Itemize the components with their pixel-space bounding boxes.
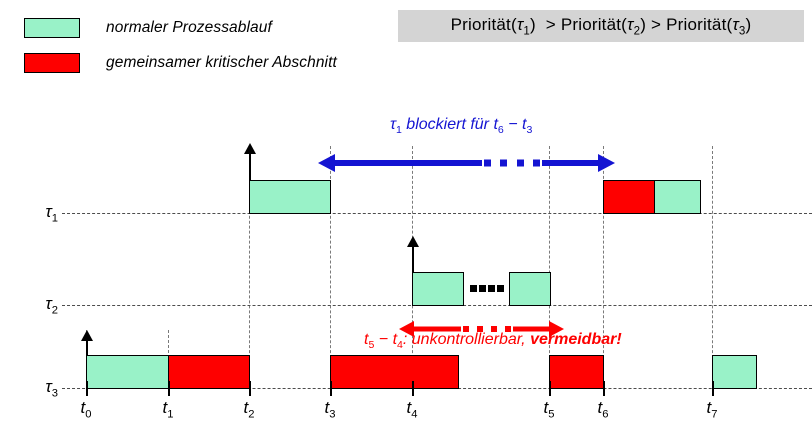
tick-label-t1: t1	[163, 398, 174, 420]
row-label-tau3: τ3	[18, 377, 58, 399]
row-label-tau2: τ2	[18, 294, 58, 316]
gridline-t5	[549, 146, 550, 388]
tick-t2	[249, 381, 251, 396]
tick-label-t0: t0	[81, 398, 92, 420]
tick-t0	[86, 381, 88, 396]
tick-label-t3: t3	[325, 398, 336, 420]
priority-order-box: Priorität(τ1) > Priorität(τ2) > Prioritä…	[398, 10, 804, 42]
preemption-dots-tau2	[470, 285, 504, 292]
bar-tau3-critical-t1-t2	[168, 355, 250, 389]
arrow-shaft-left	[334, 160, 482, 166]
bar-tau3-critical-t5-t6	[549, 355, 604, 389]
tick-label-t6: t6	[598, 398, 609, 420]
annotation-blocked-label: τ1 blockiert für t6 − t3	[390, 116, 532, 136]
arrow-head-right-icon	[598, 154, 615, 172]
annotation-blocked-arrow	[318, 153, 615, 173]
bar-tau3-normal-t0-t1	[86, 355, 169, 389]
arrow-head-left-icon	[318, 154, 335, 172]
bar-tau2-normal-t5	[509, 272, 551, 306]
tick-t7	[712, 381, 714, 396]
diagram-canvas: normaler Prozessablauf gemeinsamer kriti…	[0, 0, 812, 432]
arrow-shaft-right	[542, 160, 598, 166]
tick-t3	[330, 381, 332, 396]
tick-label-t2: t2	[244, 398, 255, 420]
bar-tau1-normal-after-t6	[654, 180, 701, 214]
annotation-uncontrollable-label: t5 − t4: unkontrollierbar, vermeidbar!	[364, 331, 622, 351]
bar-tau2-normal-t4	[412, 272, 464, 306]
bar-tau1-normal-t2-t3	[249, 180, 331, 214]
gridline-t7	[712, 146, 713, 388]
tick-t4	[412, 381, 414, 396]
legend-label-critical: gemeinsamer kritischer Abschnitt	[106, 54, 337, 72]
legend-label-normal: normaler Prozessablauf	[106, 19, 272, 37]
legend-item-critical: gemeinsamer kritischer Abschnitt	[24, 53, 337, 73]
tick-label-t4: t4	[407, 398, 418, 420]
bar-tau3-normal-t7	[712, 355, 757, 389]
row-label-tau1: τ1	[18, 202, 58, 224]
priority-text: Priorität(τ1) > Priorität(τ2) > Prioritä…	[451, 15, 752, 37]
red-swatch-icon	[24, 53, 80, 73]
bar-tau3-critical-t3-t4	[330, 355, 459, 389]
tick-t5	[549, 381, 551, 396]
tick-label-t7: t7	[707, 398, 718, 420]
legend-item-normal: normaler Prozessablauf	[24, 18, 272, 38]
arrow-dots	[484, 160, 540, 167]
bar-tau1-critical-t6	[603, 180, 655, 214]
tick-label-t5: t5	[544, 398, 555, 420]
green-swatch-icon	[24, 18, 80, 38]
tick-t6	[603, 381, 605, 396]
tick-t1	[168, 381, 170, 396]
